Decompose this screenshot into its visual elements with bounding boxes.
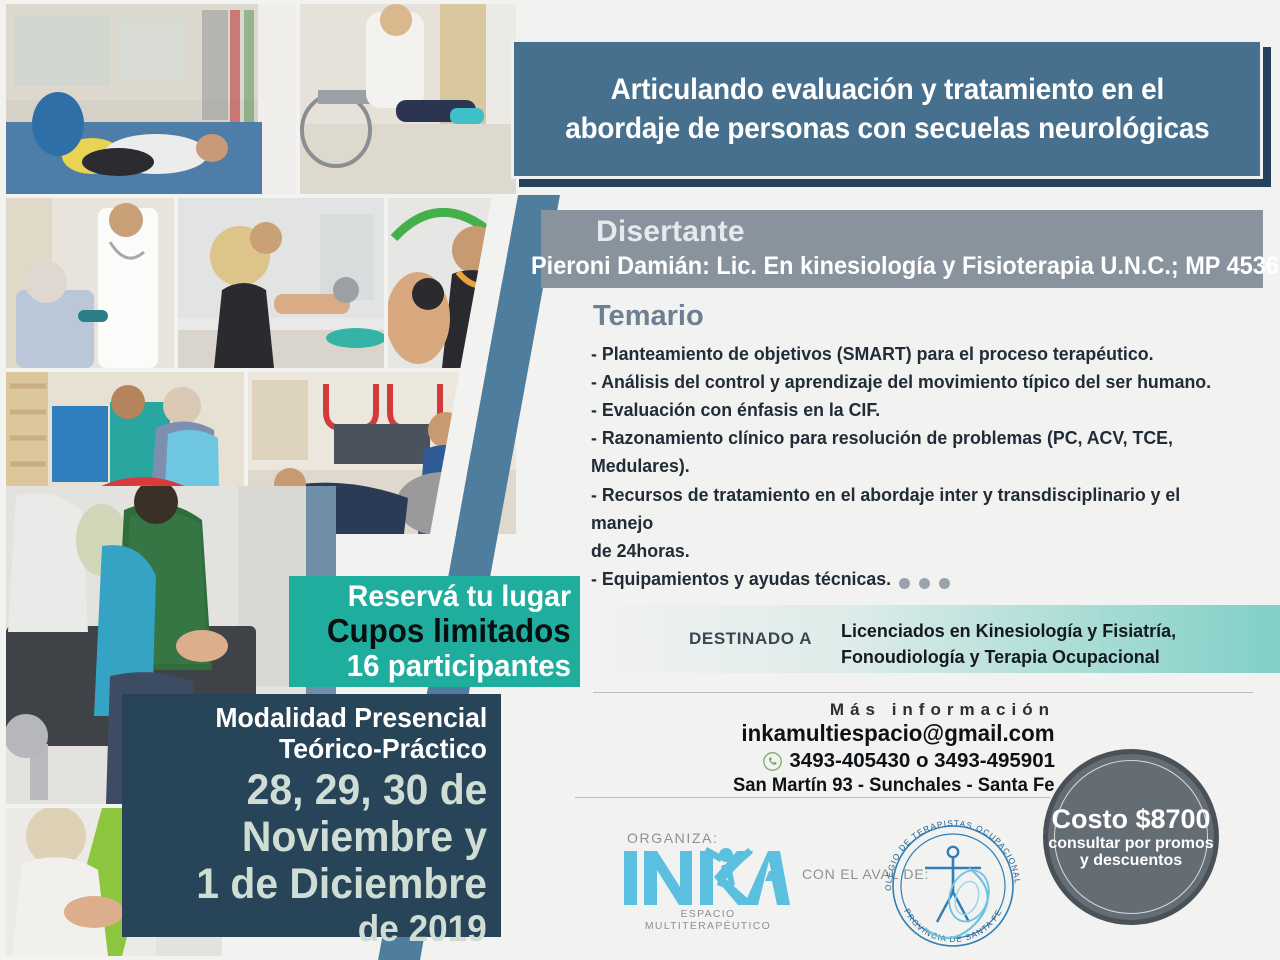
inka-logo — [622, 845, 792, 907]
title-line2: abordaje de personas con secuelas neurol… — [565, 112, 1209, 145]
date-line3: 1 de Diciembre — [196, 863, 487, 906]
address: San Martín 93 - Sunchales - Santa Fe — [733, 775, 1055, 797]
photo-wheelchair-knee-therapy — [300, 4, 516, 194]
destinado-audience: Licenciados en Kinesiología y Fisiatría,… — [841, 618, 1176, 669]
date-line1: 28, 29, 30 de — [246, 769, 487, 812]
title-line1-strong: Articulando evaluación y tratamiento — [610, 73, 1093, 106]
reserva-line2: Cupos limitados — [327, 614, 571, 648]
modality-line1: Modalidad Presencial — [215, 704, 487, 732]
temario-item: - Evaluación con énfasis en la CIF. — [591, 396, 1244, 424]
cost-note1: consultar por promos — [1048, 836, 1213, 853]
email-address[interactable]: inkamultiespacio@gmail.com — [733, 721, 1055, 747]
phone-numbers-row: 3493-405430 o 3493-495901 — [723, 749, 1055, 774]
title-box: Articulando evaluación y tratamiento en … — [511, 39, 1263, 179]
dot-separator — [899, 578, 950, 589]
date-line2: Noviembre y — [242, 816, 487, 859]
colegio-seal-logo: COLEGIO DE TERAPISTAS OCUPACIONALES PROV… — [873, 818, 1033, 950]
temario-item: - Razonamiento clínico para resolución d… — [591, 424, 1244, 480]
temario-item: - Análisis del control y aprendizaje del… — [591, 368, 1244, 396]
dot-icon — [919, 578, 930, 589]
reserva-line1: Reservá tu lugar — [348, 582, 571, 613]
destinado-line1: Licenciados en Kinesiología y Fisiatría, — [841, 618, 1176, 644]
temario-list: - Planteamiento de objetivos (SMART) par… — [591, 340, 1271, 593]
cost-note2: y descuentos — [1080, 853, 1182, 870]
contact-block: Más información inkamultiespacio@gmail.c… — [723, 700, 1055, 797]
date-line4: de 2019 — [358, 910, 487, 947]
page-title: Articulando evaluación y tratamiento en … — [550, 70, 1224, 148]
photo-woman-ball-exercise — [178, 198, 384, 368]
inka-tagline: ESPACIO MULTITERAPÉUTICO — [622, 908, 794, 932]
reserva-line3: 16 participantes — [347, 650, 571, 682]
modality-line2: Teórico-Práctico — [279, 735, 487, 763]
more-info-label: Más información — [723, 700, 1055, 720]
speaker-label: Disertante — [596, 215, 745, 249]
flyer-root: Articulando evaluación y tratamiento en … — [0, 0, 1280, 960]
speaker-name: Pieroni Damián: Lic. En kinesiología y F… — [531, 252, 1279, 281]
contact-rule-top — [593, 692, 1253, 693]
date-box: Modalidad Presencial Teórico-Práctico 28… — [122, 694, 501, 937]
destinado-line2: Fonoudiología y Terapia Ocupacional — [841, 644, 1176, 670]
destinado-label: DESTINADO A — [689, 629, 812, 649]
dot-icon — [939, 578, 950, 589]
photo-green-band-shoulder — [388, 198, 516, 368]
temario-heading: Temario — [593, 300, 704, 333]
phone-numbers[interactable]: 3493-405430 o 3493-495901 — [789, 749, 1055, 774]
temario-item: - Recursos de tratamiento en el abordaje… — [591, 481, 1244, 565]
dot-icon — [899, 578, 910, 589]
title-line1-rest: en el — [1093, 73, 1163, 106]
phone-icon — [763, 752, 782, 771]
photo-elderly-dumbbell — [6, 198, 174, 368]
photo-therapist-floor-exercise — [6, 4, 296, 194]
cost-amount: Costo $8700 — [1051, 805, 1210, 833]
cost-badge: Costo $8700 consultar por promos y descu… — [1043, 749, 1219, 925]
reserva-box: Reservá tu lugar Cupos limitados 16 part… — [289, 576, 580, 687]
temario-item: - Planteamiento de objetivos (SMART) par… — [591, 340, 1244, 368]
organiza-label: ORGANIZA: — [627, 830, 718, 846]
